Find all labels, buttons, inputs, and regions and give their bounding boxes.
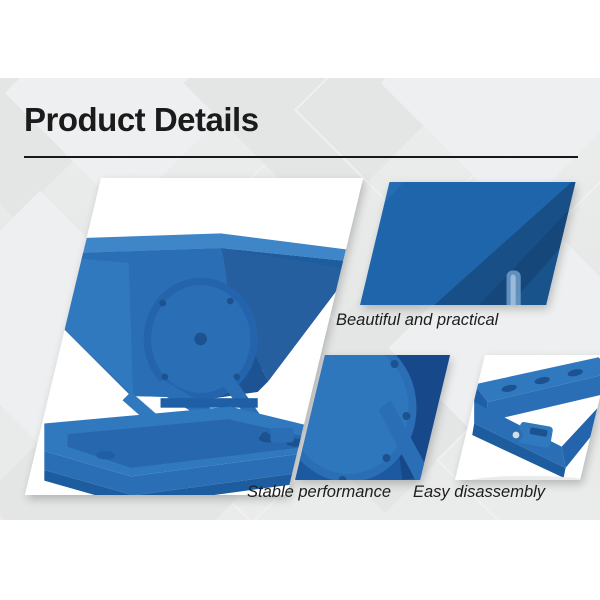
glossy-blue-panel-illustration <box>360 182 576 305</box>
thumbnail-surface-closeup[interactable] <box>360 182 576 305</box>
title-underline-rule <box>24 156 578 158</box>
caption-easy-disassembly: Easy disassembly <box>413 482 545 502</box>
product-details-page: Product Details <box>0 0 600 600</box>
caption-stable-performance: Stable performance <box>247 482 391 502</box>
thumbnail-surface-closeup-inner <box>360 182 576 305</box>
surface-closeup-artwork <box>360 182 576 305</box>
caption-beautiful-and-practical: Beautiful and practical <box>336 310 498 330</box>
page-title: Product Details <box>24 100 259 140</box>
